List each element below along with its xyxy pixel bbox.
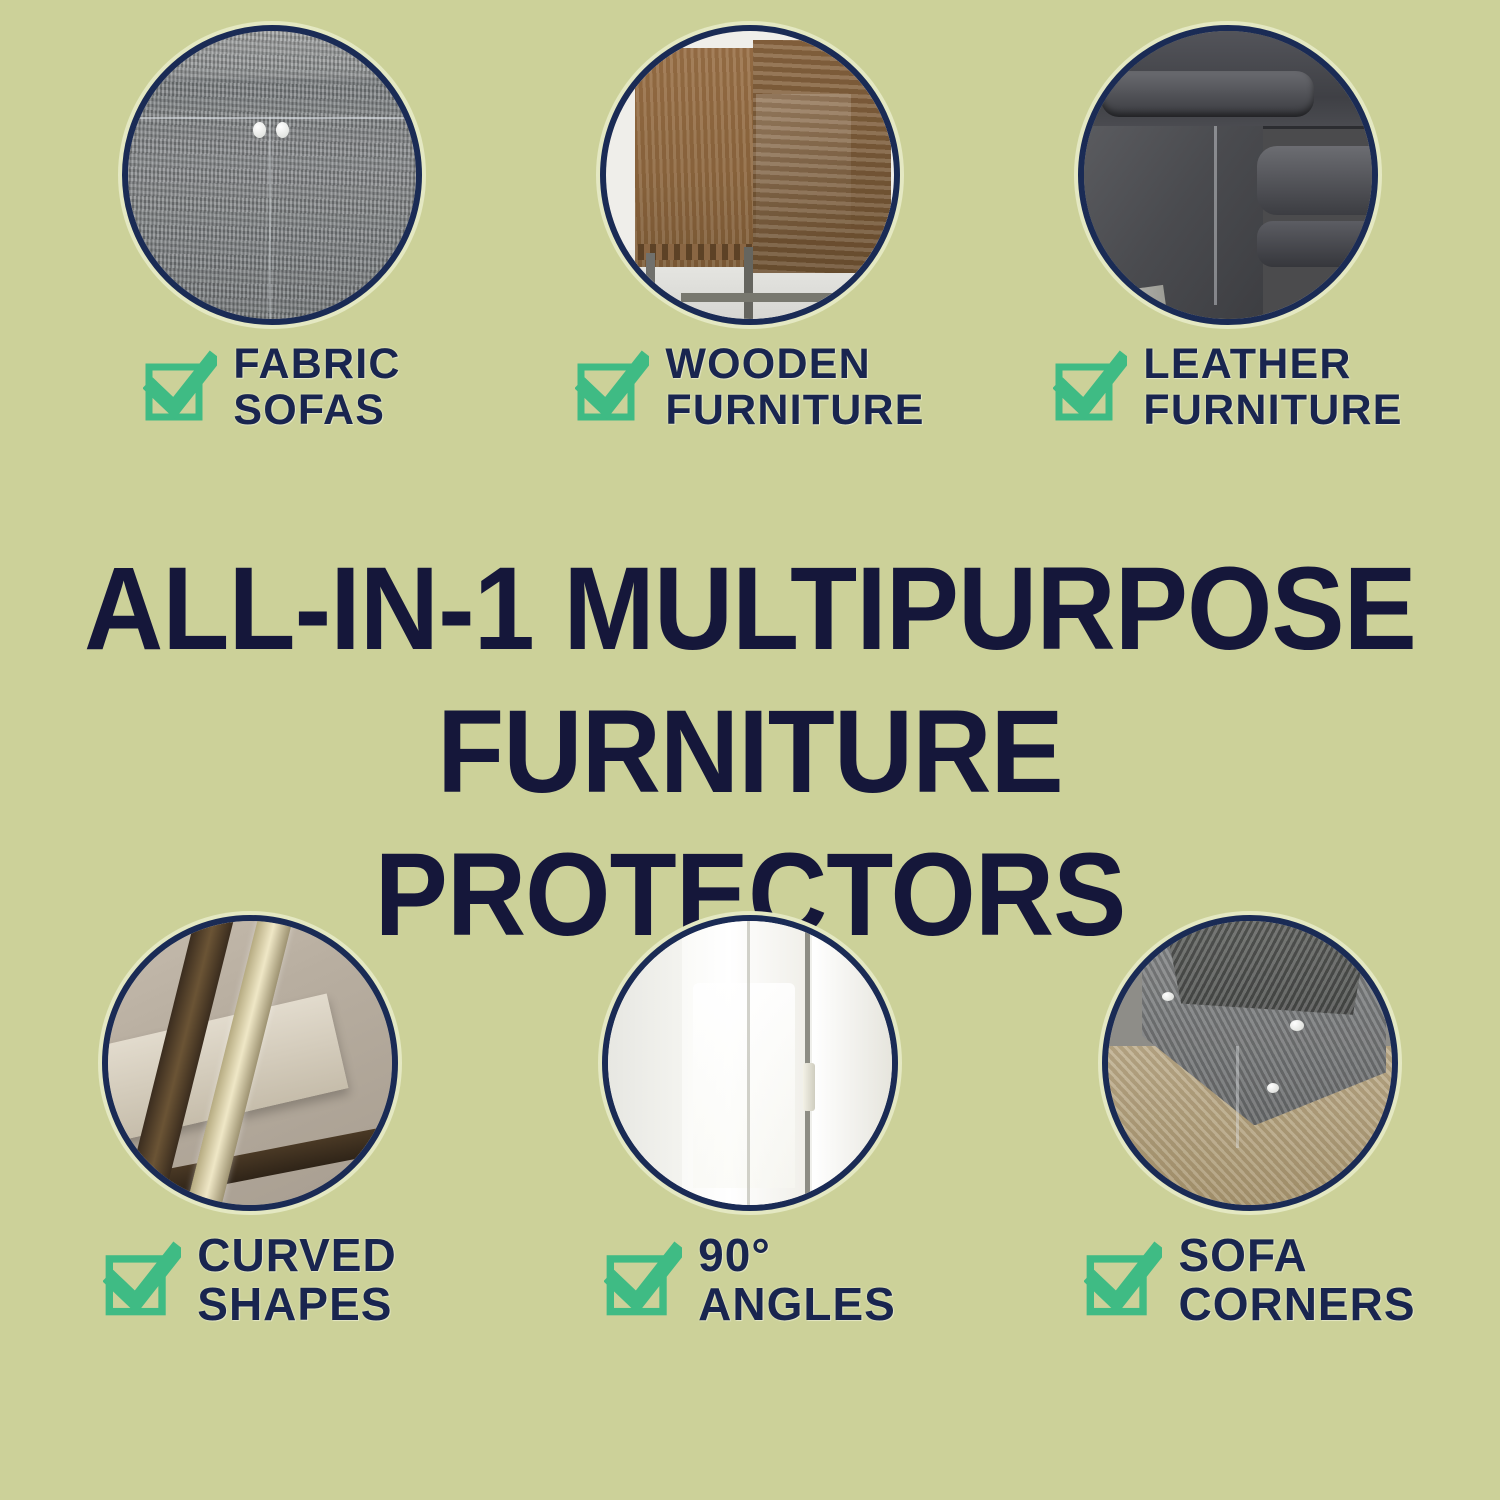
feature-label: 90° ANGLES [698,1231,896,1329]
feature-image-wrap [1102,915,1398,1211]
cabinet-left-panel [635,48,753,267]
sofa-cushion [1165,921,1369,1015]
corner-seam [1236,1046,1239,1148]
wall-right [812,921,892,1205]
feature-label: LEATHER FURNITURE [1143,341,1402,433]
feature-label: FABRIC SOFAS [233,341,400,433]
lint-dot [253,122,266,138]
metal-rail [681,293,883,302]
sofa-corner-photo [1108,921,1392,1205]
feature-leather-furniture: LEATHER FURNITURE [1008,25,1448,433]
corner-edge [747,921,750,1205]
lint-dot [1267,1083,1279,1093]
circle-photo-frame [122,25,422,325]
sofa-corner-texture [1108,921,1392,1205]
page-title: ALL-IN-1 MULTIPURPOSE FURNITURE PROTECTO… [53,538,1448,966]
leather-sofa-photo [1084,31,1372,319]
check-box-icon [1084,1241,1162,1319]
feature-row-bottom: CURVED SHAPES [0,915,1500,1329]
feature-ninety-degree-angles: 90° ANGLES [500,915,1000,1329]
check-box-icon [1053,350,1127,424]
wall-left [608,921,688,1205]
circle-photo-frame [602,915,898,1211]
curved-frame-texture [108,921,392,1205]
feature-curved-shapes: CURVED SHAPES [0,915,500,1329]
circle-photo-frame [600,25,900,325]
wooden-cabinet-photo [606,31,894,319]
sofa-back-roll [1101,71,1314,117]
feature-wooden-furniture: WOODEN FURNITURE [530,25,970,433]
feature-caption: SOFA CORNERS [1084,1231,1415,1329]
check-box-icon [103,1241,181,1319]
sofa-arm-lower [1257,221,1372,267]
feature-fabric-sofas: FABRIC SOFAS [52,25,492,433]
door-hinge [803,1063,815,1111]
check-box-icon [575,350,649,424]
protector-sheen [756,94,851,238]
leather-texture [1084,31,1372,319]
fabric-sofa-photo [128,31,416,319]
feature-label: WOODEN FURNITURE [665,341,924,433]
white-corner-photo [608,921,892,1205]
check-box-icon [143,350,217,424]
feature-caption: 90° ANGLES [604,1231,896,1329]
metal-leg [744,247,753,319]
circle-photo-frame [1102,915,1398,1211]
curved-chair-photo [108,921,392,1205]
sofa-body [1084,126,1263,319]
feature-row-top: FABRIC SOFAS [0,25,1500,433]
feature-caption: LEATHER FURNITURE [1053,341,1402,433]
lint-dot [276,122,289,138]
feature-label: SOFA CORNERS [1178,1231,1415,1329]
panel-inset [693,983,795,1187]
lint-dot [1162,992,1174,1001]
feature-label: CURVED SHAPES [197,1231,396,1329]
circle-photo-frame [102,915,398,1211]
wall-corner-texture [608,921,892,1205]
feature-image-wrap [122,25,422,325]
feature-caption: FABRIC SOFAS [143,341,400,433]
feature-caption: CURVED SHAPES [103,1231,396,1329]
feature-image-wrap [602,915,898,1211]
sofa-arm-upper [1257,146,1372,215]
feature-image-wrap [1078,25,1378,325]
feature-image-wrap [600,25,900,325]
circle-photo-frame [1078,25,1378,325]
check-box-icon [604,1241,682,1319]
feature-image-wrap [102,915,398,1211]
feature-caption: WOODEN FURNITURE [575,341,924,433]
wood-texture [606,31,894,319]
feature-sofa-corners: SOFA CORNERS [1000,915,1500,1329]
metal-leg [646,253,655,319]
fabric-texture [128,31,416,319]
corner-seam [1214,126,1217,305]
product-infographic: FABRIC SOFAS [0,0,1500,1500]
